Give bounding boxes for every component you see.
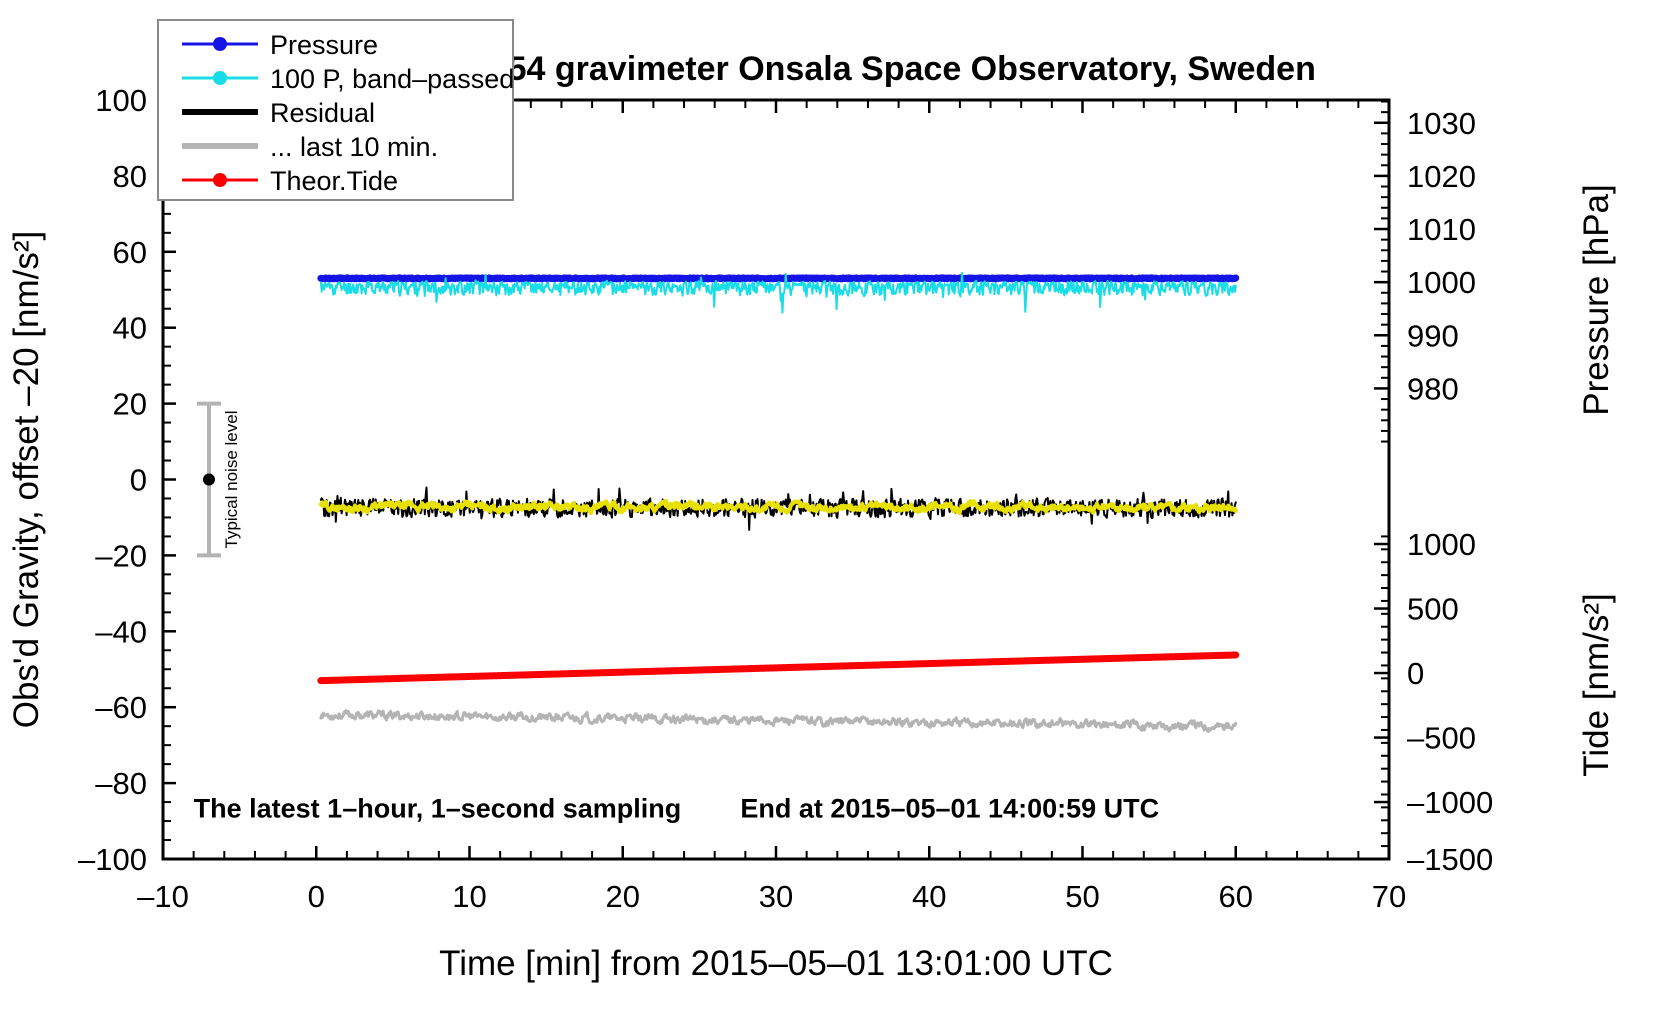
- chart-title: SCG_054 gravimeter Onsala Space Observat…: [396, 50, 1316, 88]
- noise-level-dot: [203, 474, 215, 486]
- legend-label-2[interactable]: Residual: [270, 98, 375, 128]
- noise-level-label: Typical noise level: [222, 411, 241, 549]
- legend-marker-1: [213, 71, 227, 85]
- sampling-note: The latest 1–hour, 1–second sampling: [194, 793, 682, 823]
- y-tick-label: 0: [130, 463, 147, 498]
- legend-label-4[interactable]: Theor.Tide: [270, 166, 398, 196]
- legend-marker-4: [213, 173, 227, 187]
- y-tick-label: –100: [78, 842, 147, 877]
- y-tick-label: –80: [95, 766, 147, 801]
- legend-label-1[interactable]: 100 P, band–passed: [270, 64, 514, 94]
- x-tick-label: 0: [308, 879, 325, 914]
- x-tick-label: 50: [1065, 879, 1099, 914]
- plot-frame: [163, 100, 1389, 859]
- tide-tick-label: 1000: [1407, 527, 1476, 562]
- tide-axis-title: Tide [nm/s²]: [1577, 593, 1616, 776]
- y-tick-label: 60: [113, 235, 147, 270]
- pressure-tick-label: 1000: [1407, 265, 1476, 300]
- pressure-tick-label: 1010: [1407, 212, 1476, 247]
- tide-tick-label: –1500: [1407, 842, 1493, 877]
- pressure-tick-label: 990: [1407, 318, 1459, 353]
- legend-label-3[interactable]: ... last 10 min.: [270, 132, 438, 162]
- x-tick-label: 70: [1372, 879, 1406, 914]
- y-tick-label: –20: [95, 538, 147, 573]
- tide-tick-label: –1000: [1407, 785, 1493, 820]
- x-tick-label: 60: [1219, 879, 1253, 914]
- x-axis-title: Time [min] from 2015–05–01 13:01:00 UTC: [439, 944, 1113, 983]
- y-tick-label: –60: [95, 690, 147, 725]
- tide-tick-label: 500: [1407, 592, 1459, 627]
- gravimeter-timeseries-chart: –10010203040506070–100–80–60–40–20020406…: [0, 0, 1660, 1020]
- end-time-note: End at 2015–05–01 14:00:59 UTC: [740, 793, 1159, 823]
- x-tick-label: –10: [137, 879, 189, 914]
- series-theor-tide: [321, 655, 1236, 681]
- tide-tick-label: 0: [1407, 656, 1424, 691]
- y-tick-label: 20: [113, 387, 147, 422]
- y-tick-label: 40: [113, 311, 147, 346]
- x-tick-label: 20: [606, 879, 640, 914]
- y-axis-title: Obs'd Gravity, offset –20 [nm/s²]: [7, 231, 46, 729]
- pressure-axis-title: Pressure [hPa]: [1577, 184, 1616, 416]
- series-pressure: [321, 278, 1236, 279]
- x-tick-label: 10: [452, 879, 486, 914]
- tide-tick-label: –500: [1407, 721, 1476, 756]
- legend-marker-0: [213, 37, 227, 51]
- pressure-tick-label: 980: [1407, 371, 1459, 406]
- chart-canvas: –10010203040506070–100–80–60–40–20020406…: [0, 0, 1660, 1020]
- x-tick-label: 30: [759, 879, 793, 914]
- pressure-tick-label: 1030: [1407, 106, 1476, 141]
- legend-label-0[interactable]: Pressure: [270, 30, 378, 60]
- x-tick-label: 40: [912, 879, 946, 914]
- y-tick-label: –40: [95, 614, 147, 649]
- y-tick-label: 80: [113, 159, 147, 194]
- series-last-10-min: [321, 711, 1236, 732]
- y-tick-label: 100: [95, 83, 147, 118]
- pressure-tick-label: 1020: [1407, 159, 1476, 194]
